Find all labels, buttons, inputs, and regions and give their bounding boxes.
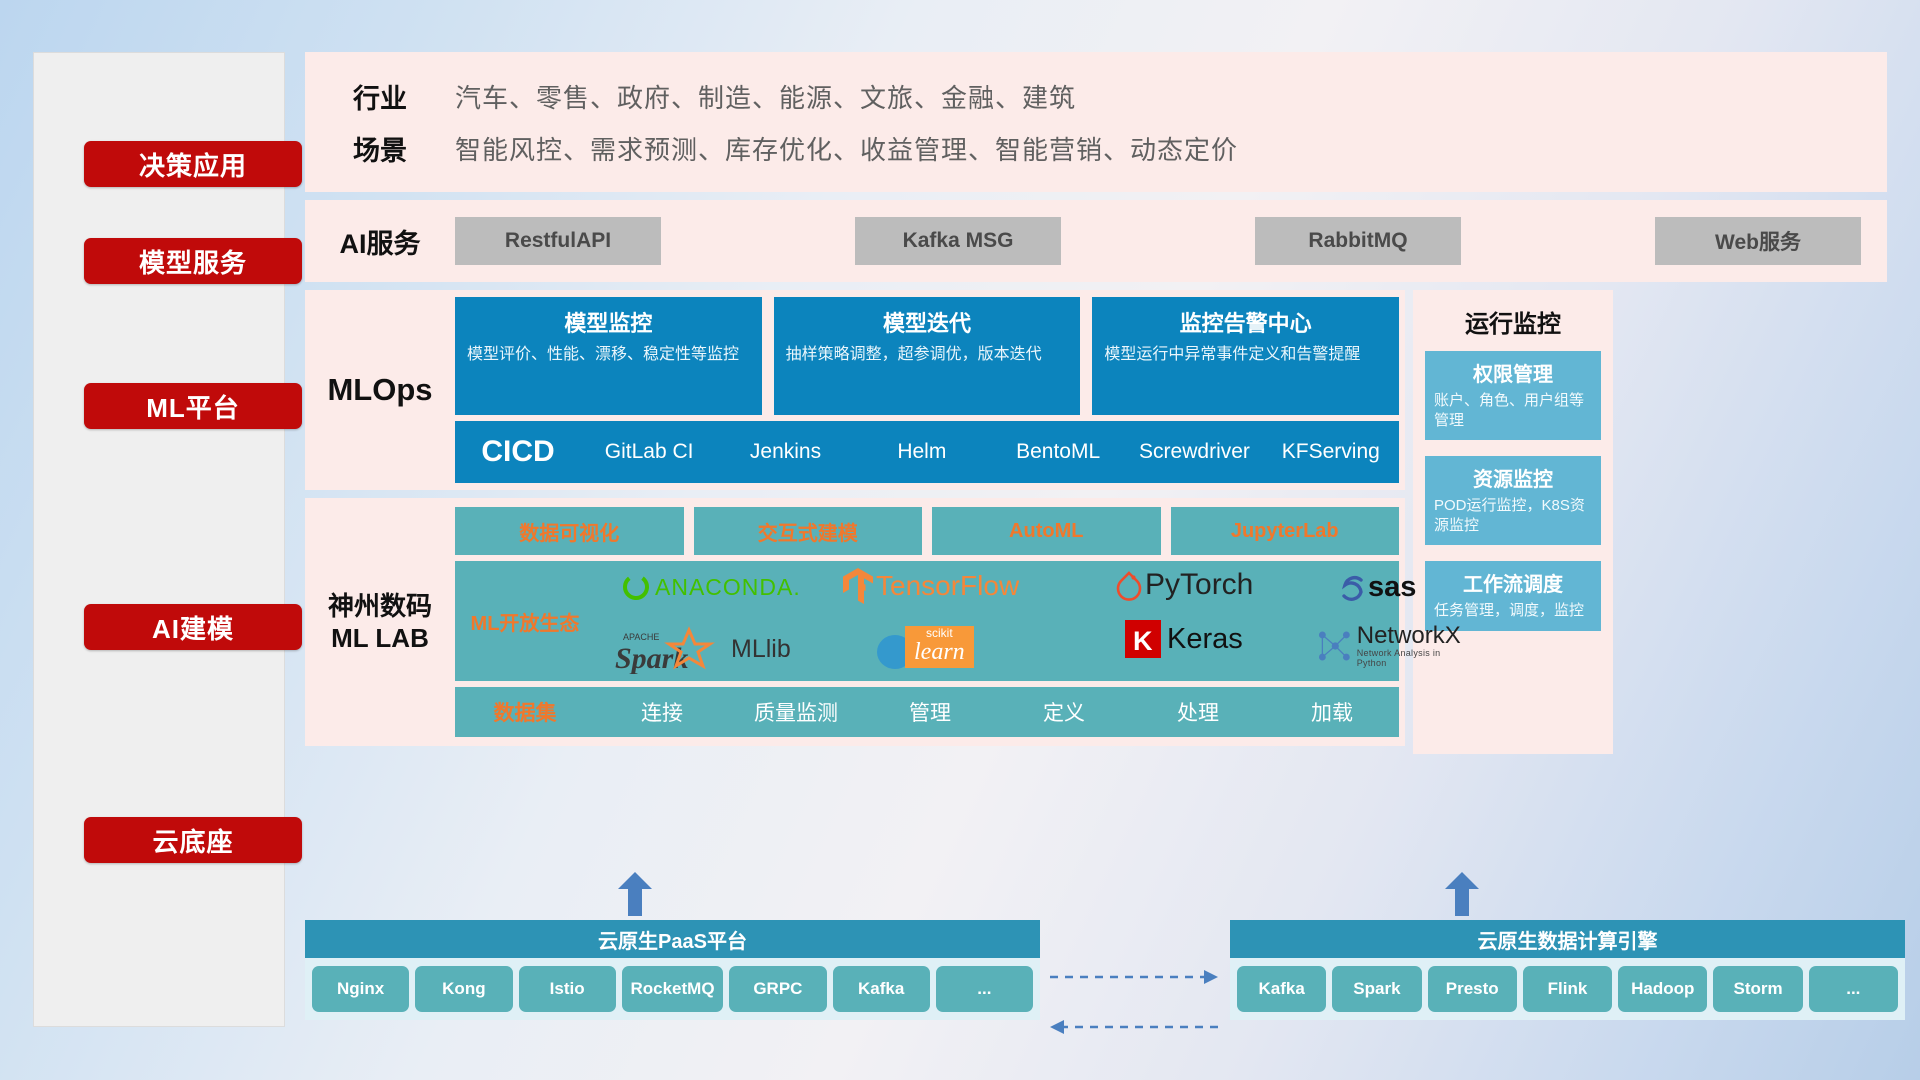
engine-pills: Kafka Spark Presto Flink Hadoop Storm ..… <box>1230 958 1905 1020</box>
keras-logo: K Keras <box>1125 620 1243 658</box>
mlops-band: MLOps 模型监控 模型评价、性能、漂移、稳定性等监控 模型迭代 抽样策略调整… <box>305 290 1405 490</box>
learn-text: learn <box>914 640 965 664</box>
monitor-card-permission[interactable]: 权限管理 账户、角色、用户组等管理 <box>1425 351 1601 440</box>
datasets-items: 连接 质量监测 管理 定义 处理 加载 <box>595 697 1399 727</box>
pytorch-logo: PyTorch <box>1115 568 1253 602</box>
cicd-item-gitlab-ci[interactable]: GitLab CI <box>581 441 717 463</box>
dataset-item-manage[interactable]: 管理 <box>863 697 997 727</box>
scikit-learn-logo: scikit learn <box>875 622 974 672</box>
diagram-root: 决策应用 模型服务 ML平台 AI建模 云底座 行业 场景 汽车、零售、政府、制… <box>0 0 1920 1080</box>
left-rail: 决策应用 模型服务 ML平台 AI建模 云底座 <box>33 52 285 1027</box>
rail-item-ml-platform[interactable]: ML平台 <box>84 383 302 429</box>
tensorflow-icon <box>843 568 873 604</box>
rail-label: AI建模 <box>152 609 234 646</box>
monitor-column: 运行监控 权限管理 账户、角色、用户组等管理 资源监控 POD运行监控，K8S资… <box>1413 290 1613 754</box>
pytorch-icon <box>1115 569 1143 601</box>
sas-icon <box>1337 573 1367 603</box>
decision-row-label-industry: 行业 <box>305 70 455 122</box>
ml-lab-tabs: 数据可视化 交互式建模 AutoML JupyterLab <box>455 507 1399 555</box>
decision-label-column: 行业 场景 <box>305 70 455 174</box>
card-desc: POD运行监控，K8S资源监控 <box>1434 496 1592 535</box>
card-title: 模型迭代 <box>786 306 1069 338</box>
card-title: 工作流调度 <box>1434 568 1592 597</box>
rail-item-cloud-base[interactable]: 云底座 <box>84 817 302 863</box>
mlops-stack: 模型监控 模型评价、性能、漂移、稳定性等监控 模型迭代 抽样策略调整，超参调优，… <box>455 297 1405 483</box>
engine-pill-presto[interactable]: Presto <box>1428 966 1517 1012</box>
paas-pill-istio[interactable]: Istio <box>519 966 616 1012</box>
mlops-card-model-iteration[interactable]: 模型迭代 抽样策略调整，超参调优，版本迭代 <box>774 297 1081 415</box>
scikit-learn-badge: scikit learn <box>905 626 974 668</box>
cicd-item-screwdriver[interactable]: Screwdriver <box>1126 441 1262 463</box>
engine-pill-kafka[interactable]: Kafka <box>1237 966 1326 1012</box>
tensorflow-logo: TensorFlow <box>843 568 1019 604</box>
engine-title: 云原生数据计算引擎 <box>1230 920 1905 958</box>
datasets-label: 数据集 <box>455 697 595 727</box>
paas-up-arrow-icon <box>618 872 652 916</box>
tensorflow-label: TensorFlow <box>876 570 1019 602</box>
card-title: 权限管理 <box>1434 358 1592 387</box>
anaconda-icon <box>621 572 651 602</box>
engine-pill-storm[interactable]: Storm <box>1713 966 1802 1012</box>
paas-pill-nginx[interactable]: Nginx <box>312 966 409 1012</box>
tab-data-visualization[interactable]: 数据可视化 <box>455 507 684 555</box>
bidirectional-connector <box>1040 955 1230 1045</box>
decision-row-scenario: 智能风控、需求预测、库存优化、收益管理、智能营销、动态定价 <box>455 122 1887 174</box>
sas-logo: sas <box>1337 571 1416 604</box>
ml-lab-label: 神州数码 ML LAB <box>305 590 455 655</box>
paas-pill-more[interactable]: ... <box>936 966 1033 1012</box>
tab-interactive-modeling[interactable]: 交互式建模 <box>694 507 923 555</box>
paas-title: 云原生PaaS平台 <box>305 920 1040 958</box>
ai-service-chip-web-service[interactable]: Web服务 <box>1655 217 1861 265</box>
decision-row-industry: 汽车、零售、政府、制造、能源、文旅、金融、建筑 <box>455 70 1887 122</box>
paas-pill-grpc[interactable]: GRPC <box>729 966 826 1012</box>
rail-label: 模型服务 <box>139 243 247 280</box>
rail-item-decision[interactable]: 决策应用 <box>84 141 302 187</box>
card-title: 监控告警中心 <box>1104 306 1387 338</box>
networkx-logo: NetworkX Network Analysis in Python <box>1315 624 1464 668</box>
tab-jupyterlab[interactable]: JupyterLab <box>1171 507 1400 555</box>
dataset-item-quality[interactable]: 质量监测 <box>729 697 863 727</box>
rail-item-model-service[interactable]: 模型服务 <box>84 238 302 284</box>
cloud-base-section: 云原生PaaS平台 Nginx Kong Istio RocketMQ GRPC… <box>305 900 1905 1030</box>
platform-column: MLOps 模型监控 模型评价、性能、漂移、稳定性等监控 模型迭代 抽样策略调整… <box>305 290 1405 754</box>
decision-rows: 汽车、零售、政府、制造、能源、文旅、金融、建筑 智能风控、需求预测、库存优化、收… <box>455 70 1887 174</box>
pytorch-label: PyTorch <box>1145 568 1253 602</box>
mlops-label: MLOps <box>305 372 455 408</box>
mllib-label: MLlib <box>731 635 791 664</box>
cicd-label: CICD <box>455 435 581 469</box>
dataset-item-load[interactable]: 加载 <box>1265 697 1399 727</box>
decision-industry-text: 汽车、零售、政府、制造、能源、文旅、金融、建筑 <box>455 78 1076 115</box>
svg-text:APACHE: APACHE <box>623 632 659 642</box>
platform-and-monitor: MLOps 模型监控 模型评价、性能、漂移、稳定性等监控 模型迭代 抽样策略调整… <box>305 290 1887 754</box>
cicd-item-kfserving[interactable]: KFServing <box>1263 441 1399 463</box>
cicd-item-bentoml[interactable]: BentoML <box>990 441 1126 463</box>
decision-scenario-text: 智能风控、需求预测、库存优化、收益管理、智能营销、动态定价 <box>455 130 1238 167</box>
ai-service-label: AI服务 <box>305 222 455 261</box>
decision-row-label-scenario: 场景 <box>305 122 455 174</box>
datasets-row: 数据集 连接 质量监测 管理 定义 处理 加载 <box>455 687 1399 737</box>
paas-pill-rocketmq[interactable]: RocketMQ <box>622 966 724 1012</box>
cicd-items: GitLab CI Jenkins Helm BentoML Screwdriv… <box>581 441 1399 463</box>
ai-service-chips: RestfulAPI Kafka MSG RabbitMQ Web服务 <box>455 217 1887 265</box>
ml-lab-stack: 数据可视化 交互式建模 AutoML JupyterLab ML开放生态 <box>455 507 1405 737</box>
paas-platform-box: 云原生PaaS平台 Nginx Kong Istio RocketMQ GRPC… <box>305 920 1040 1020</box>
ml-lab-band: 神州数码 ML LAB 数据可视化 交互式建模 AutoML JupyterLa… <box>305 498 1405 746</box>
dataset-item-define[interactable]: 定义 <box>997 697 1131 727</box>
monitor-card-resource[interactable]: 资源监控 POD运行监控，K8S资源监控 <box>1425 456 1601 545</box>
keras-icon: K <box>1125 620 1161 658</box>
anaconda-logo: ANACONDA. <box>621 572 801 602</box>
spark-mllib-logo: APACHE Spark MLlib <box>615 624 791 674</box>
ml-lab-label-line1: 神州数码 <box>305 590 455 623</box>
rail-label: ML平台 <box>146 388 240 425</box>
card-desc: 抽样策略调整，超参调优，版本迭代 <box>786 344 1069 366</box>
ml-ecosystem-row: ML开放生态 ANACONDA. <box>455 561 1399 681</box>
sas-label: sas <box>1368 571 1416 604</box>
engine-pill-spark[interactable]: Spark <box>1332 966 1421 1012</box>
cicd-item-jenkins[interactable]: Jenkins <box>717 441 853 463</box>
monitor-card-workflow[interactable]: 工作流调度 任务管理，调度，监控 <box>1425 561 1601 631</box>
anaconda-label: ANACONDA. <box>655 574 801 601</box>
mlops-card-model-monitoring[interactable]: 模型监控 模型评价、性能、漂移、稳定性等监控 <box>455 297 762 415</box>
tab-automl[interactable]: AutoML <box>932 507 1161 555</box>
dataset-item-process[interactable]: 处理 <box>1131 697 1265 727</box>
svg-text:K: K <box>1133 626 1153 656</box>
rail-label: 云底座 <box>152 822 233 859</box>
engine-pill-hadoop[interactable]: Hadoop <box>1618 966 1707 1012</box>
ai-service-chip-kafka-msg[interactable]: Kafka MSG <box>855 217 1061 265</box>
card-desc: 账户、角色、用户组等管理 <box>1434 391 1592 430</box>
cicd-row: CICD GitLab CI Jenkins Helm BentoML Scre… <box>455 421 1399 483</box>
rail-label: 决策应用 <box>139 146 247 183</box>
card-title: 资源监控 <box>1434 463 1592 492</box>
data-engine-box: 云原生数据计算引擎 Kafka Spark Presto Flink Hadoo… <box>1230 920 1905 1020</box>
ml-lab-label-line2: ML LAB <box>305 622 455 655</box>
engine-pill-flink[interactable]: Flink <box>1523 966 1612 1012</box>
cicd-item-helm[interactable]: Helm <box>854 441 990 463</box>
spark-icon: APACHE Spark <box>615 624 727 674</box>
card-desc: 任务管理，调度，监控 <box>1434 601 1592 621</box>
keras-label: Keras <box>1167 623 1243 656</box>
ai-service-chip-restfulapi[interactable]: RestfulAPI <box>455 217 661 265</box>
decision-band: 行业 场景 汽车、零售、政府、制造、能源、文旅、金融、建筑 智能风控、需求预测、… <box>305 52 1887 192</box>
paas-pill-kong[interactable]: Kong <box>415 966 512 1012</box>
paas-pills: Nginx Kong Istio RocketMQ GRPC Kafka ... <box>305 958 1040 1020</box>
networkx-label: NetworkX <box>1357 624 1464 648</box>
engine-up-arrow-icon <box>1445 872 1479 916</box>
card-title: 模型监控 <box>467 306 750 338</box>
networkx-icon <box>1315 626 1354 666</box>
main-column: 行业 场景 汽车、零售、政府、制造、能源、文旅、金融、建筑 智能风控、需求预测、… <box>305 52 1887 754</box>
engine-pill-more[interactable]: ... <box>1809 966 1898 1012</box>
paas-pill-kafka[interactable]: Kafka <box>833 966 930 1012</box>
ai-service-band: AI服务 RestfulAPI Kafka MSG RabbitMQ Web服务 <box>305 200 1887 282</box>
networkx-tagline: Network Analysis in Python <box>1357 648 1464 668</box>
ai-service-chip-rabbitmq[interactable]: RabbitMQ <box>1255 217 1461 265</box>
card-desc: 模型运行中异常事件定义和告警提醒 <box>1104 344 1387 366</box>
mlops-card-alert-center[interactable]: 监控告警中心 模型运行中异常事件定义和告警提醒 <box>1092 297 1399 415</box>
card-desc: 模型评价、性能、漂移、稳定性等监控 <box>467 344 750 366</box>
ml-ecosystem-label: ML开放生态 <box>455 607 595 636</box>
rail-item-ai-modeling[interactable]: AI建模 <box>84 604 302 650</box>
dataset-item-connect[interactable]: 连接 <box>595 697 729 727</box>
ml-ecosystem-logos: ANACONDA. TensorFlow <box>595 562 1399 680</box>
mlops-cards: 模型监控 模型评价、性能、漂移、稳定性等监控 模型迭代 抽样策略调整，超参调优，… <box>455 297 1399 415</box>
monitor-title: 运行监控 <box>1425 304 1601 339</box>
